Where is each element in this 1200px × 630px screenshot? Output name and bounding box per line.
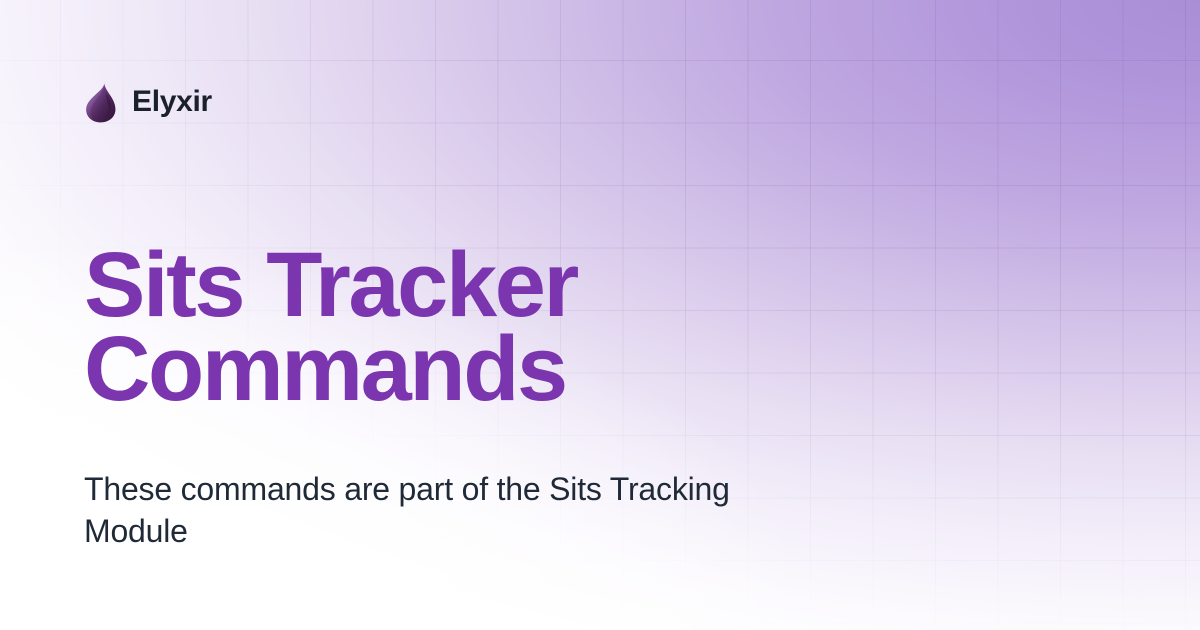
brand-name: Elyxir: [132, 87, 212, 117]
page-subtitle: These commands are part of the Sits Trac…: [84, 468, 744, 552]
elixir-droplet-icon: [84, 81, 118, 123]
open-graph-card: Elyxir Sits Tracker Commands These comma…: [0, 0, 1200, 630]
page-title: Sits Tracker Commands: [84, 243, 784, 411]
card-content: Elyxir Sits Tracker Commands These comma…: [0, 0, 1200, 630]
brand-lockup: Elyxir: [84, 78, 212, 126]
